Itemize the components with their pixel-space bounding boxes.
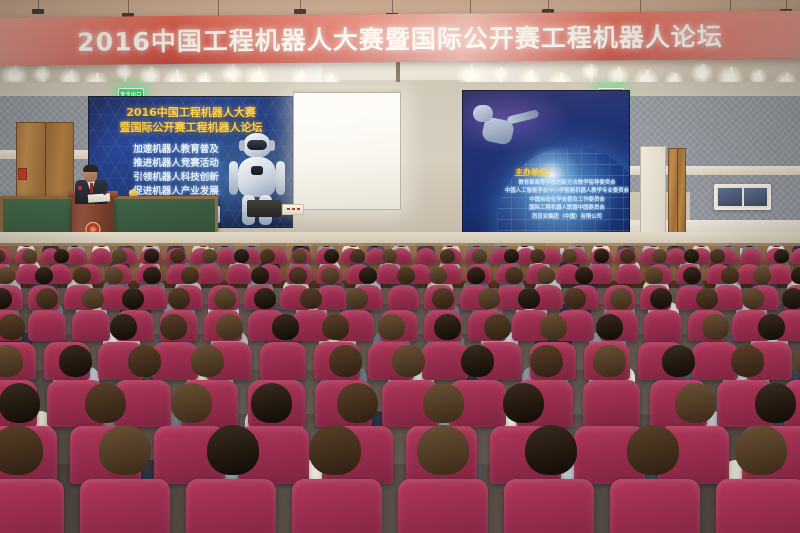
audience-head [467,267,485,284]
auditorium-seat[interactable] [28,310,66,341]
robot-torso [238,157,276,197]
event-banner: 2016中国工程机器人大赛暨国际公开赛工程机器人论坛 [0,10,800,65]
audience-head [260,249,275,263]
audience-head [440,249,455,263]
audience-head [382,249,397,263]
audience-head [82,288,104,309]
audience-head [234,249,249,263]
auditorium-seat[interactable] [196,264,222,284]
audience-head [505,267,523,284]
audience-head [160,314,187,340]
banner-wire [392,0,393,14]
auditorium-seat[interactable] [398,479,488,533]
audience-head [484,314,511,340]
audience-head [721,267,739,284]
audience-head [525,425,577,475]
audience-head [662,345,695,377]
auditorium-seat[interactable] [226,264,252,284]
audience-head [791,267,800,284]
audience-head [645,267,663,284]
audience-area [0,246,800,533]
audience-head [337,383,378,423]
audience-head [0,383,40,423]
audience-head [216,314,243,340]
audience-head [540,314,567,340]
audience-head [503,383,544,423]
audience-head [478,288,500,309]
audience-head [309,425,361,475]
audience-head [684,249,699,263]
audience-head [755,383,796,423]
audience-head [112,249,127,263]
auditorium-seat[interactable] [504,479,594,533]
audience-head [85,383,126,423]
right-robot-head [473,105,493,122]
audience-head [73,267,91,284]
audience-head [191,345,224,377]
audience-head [575,267,593,284]
audience-head [530,345,563,377]
audience-head [594,249,609,263]
audience-head [564,288,586,309]
audience-head [596,314,623,340]
right-white-door[interactable] [640,146,666,236]
audience-head [122,288,144,309]
audience-head [36,288,58,309]
banner-wire [128,0,129,14]
audience-head [322,314,349,340]
event-banner-text: 2016中国工程机器人大赛暨国际公开赛工程机器人论坛 [77,17,723,59]
robot-chest-panel [251,166,263,175]
audience-head [171,383,212,423]
audience-head [144,249,159,263]
audience-head [289,267,307,284]
audience-head [214,288,236,309]
audience-head [168,288,190,309]
audience-head [518,288,540,309]
audience-head [461,345,494,377]
audience-head [272,314,299,340]
audience-head [128,345,161,377]
speaker-hair [83,165,98,172]
left-door-sign [18,168,27,180]
speaker-papers [88,193,111,203]
booth-window-pane-right [744,188,768,206]
audience-head [54,249,69,263]
right-led-screen: 主办单位： 教育部高等学校创新方法教学指导委员会 中国人工智能学会中小学智能机器… [462,90,630,238]
audience-head [504,249,519,263]
stage-equipment-case [247,200,281,217]
audience-head [99,425,151,475]
audience-head [417,425,469,475]
audience-head [251,267,269,284]
audience-head [627,425,679,475]
organizers-list: 教育部高等学校创新方法教学指导委员会 中国人工智能学会中小学智能机器人教学专业委… [505,179,629,221]
audience-head [432,288,454,309]
banner-clip [32,9,44,14]
audience-head [650,288,672,309]
robot-arm-left [229,161,238,195]
audience-head [300,288,322,309]
booth-window-pane-left [718,188,742,206]
auditorium-seat[interactable] [260,342,306,380]
auditorium-seat[interactable] [388,285,419,310]
audience-head [22,249,37,263]
right-screen-robot-graphic [469,101,541,163]
auditorium-seat[interactable] [0,479,64,533]
auditorium-seat[interactable] [80,479,170,533]
auditorium-seat[interactable] [716,479,800,533]
audience-head [735,425,787,475]
audience-head [423,383,464,423]
audience-head [397,267,415,284]
speaker-lapel-badge [78,186,82,190]
auditorium-seat[interactable] [72,310,110,341]
center-projection-screen [293,92,401,210]
audience-head [0,314,25,340]
audience-head [105,267,123,284]
audience-head [537,267,555,284]
audience-head [710,249,725,263]
audience-head [610,288,632,309]
robot-ear-right [269,140,275,151]
audience-head [392,345,425,377]
auditorium-seat[interactable] [186,479,276,533]
left-screen-title-line1: 2016中国工程机器人大赛 [103,105,279,120]
organizers-heading: 主办单位： [515,167,555,178]
audience-head [346,288,368,309]
audience-head [207,425,259,475]
auditorium-seat[interactable] [644,310,682,341]
audience-head [696,288,718,309]
robot-ear-left [239,140,245,151]
audience-head [562,249,577,263]
audience-head [59,345,92,377]
organizer-2: 中国人工智能学会中小学智能机器人教学专业委员会 [505,187,629,195]
audience-head [251,383,292,423]
organizer-4: 国际工程机器人联盟中国委员会 [505,204,629,212]
projection-booth-window [714,184,771,210]
audience-head [324,249,339,263]
robot-visor [247,140,267,150]
audience-head [292,249,307,263]
auditorium-seat[interactable] [616,264,642,284]
auditorium-seat[interactable] [610,479,700,533]
audience-head [530,249,545,263]
organizer-5: 西觅亚集团（中国）有限公司 [505,213,629,221]
audience-head [181,267,199,284]
audience-head [202,249,217,263]
audience-head [143,267,161,284]
audience-head [329,345,362,377]
banner-clip [294,9,306,14]
audience-head [782,288,800,309]
audience-head [731,345,764,377]
audience-head [472,249,487,263]
auditorium-photo: 安全出口 安全出口 2016中国工程机器人大赛 暨国际公开赛工程机器人论坛 加速… [0,0,800,533]
audience-head [110,314,137,340]
audience-head [350,249,365,263]
audience-head [321,267,339,284]
audience-head [429,267,447,284]
auditorium-seat[interactable] [292,479,382,533]
audience-head [683,267,701,284]
right-wood-door[interactable] [668,148,686,236]
audience-head [620,249,635,263]
audience-head [758,314,785,340]
audience-head [652,249,667,263]
stage-nameplate [282,204,304,215]
audience-head [593,345,626,377]
organizer-1: 教育部高等学校创新方法教学指导委员会 [505,179,629,187]
audience-head [742,288,764,309]
audience-head [774,249,789,263]
organizer-3: 中国自动化学会普及工作委员会 [505,196,629,204]
audience-head [434,314,461,340]
audience-head [254,288,276,309]
audience-head [702,314,729,340]
speaker-tie [90,183,93,193]
audience-head [675,383,716,423]
audience-head [170,249,185,263]
robot-arm-right [276,161,285,195]
audience-head [359,267,377,284]
auditorium-seat[interactable] [583,380,640,427]
audience-head [378,314,405,340]
left-screen-title: 2016中国工程机器人大赛 暨国际公开赛工程机器人论坛 [103,105,279,135]
audience-head [35,267,53,284]
audience-head [0,267,15,284]
audience-head [753,267,771,284]
